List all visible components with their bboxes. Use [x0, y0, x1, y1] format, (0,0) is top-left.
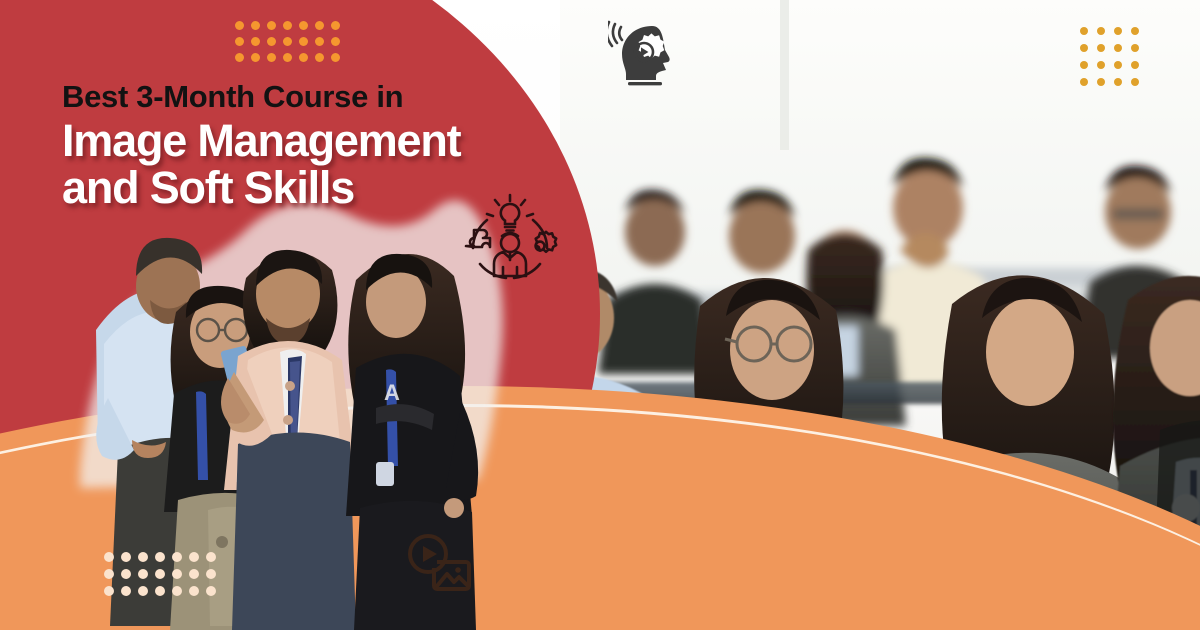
decorative-dot — [299, 21, 308, 30]
decorative-dot — [235, 37, 244, 46]
decorative-dot — [299, 37, 308, 46]
decorative-dot — [138, 569, 148, 579]
headline-line-3: and Soft Skills — [62, 164, 602, 212]
decorative-dot — [251, 53, 260, 62]
decorative-dot — [189, 569, 199, 579]
decorative-dot — [315, 37, 324, 46]
decorative-dot — [267, 53, 276, 62]
decorative-dot — [315, 53, 324, 62]
decorative-dot — [235, 53, 244, 62]
dots-top-left — [232, 18, 344, 66]
page-title: Best 3-Month Course in Image Management … — [62, 80, 602, 212]
decorative-dot — [331, 37, 340, 46]
headline-line-2: Image Management — [62, 117, 602, 165]
decorative-dot — [189, 552, 199, 562]
decorative-dot — [299, 53, 308, 62]
decorative-dot — [267, 37, 276, 46]
decorative-dot — [172, 569, 182, 579]
decorative-dot — [331, 53, 340, 62]
decorative-dot — [138, 552, 148, 562]
dots-bottom-left — [101, 549, 220, 600]
decorative-dot — [155, 552, 165, 562]
decorative-dot — [283, 37, 292, 46]
decorative-dot — [189, 586, 199, 596]
decorative-dot — [206, 569, 216, 579]
decorative-dot — [315, 21, 324, 30]
decorative-dot — [206, 552, 216, 562]
decorative-dot — [104, 569, 114, 579]
decorative-dot — [251, 21, 260, 30]
decorative-dot — [267, 21, 276, 30]
decorative-dot — [138, 586, 148, 596]
decorative-dot — [172, 586, 182, 596]
decorative-dot — [283, 21, 292, 30]
decorative-dot — [206, 586, 216, 596]
decorative-dot — [155, 586, 165, 596]
decorative-dot — [121, 586, 131, 596]
decorative-dot — [121, 552, 131, 562]
promo-banner: A Best 3-Month Course in Image Managemen… — [0, 0, 1200, 630]
decorative-dot — [331, 21, 340, 30]
decorative-dot — [155, 569, 165, 579]
decorative-dot — [172, 552, 182, 562]
headline-line-1: Best 3-Month Course in — [62, 80, 602, 115]
decorative-dot — [121, 569, 131, 579]
decorative-dot — [283, 53, 292, 62]
play-media-image-icon — [404, 532, 472, 592]
svg-text:A: A — [384, 380, 400, 405]
decorative-dot — [251, 37, 260, 46]
decorative-dot — [104, 552, 114, 562]
decorative-dot — [104, 586, 114, 596]
decorative-dot — [235, 21, 244, 30]
